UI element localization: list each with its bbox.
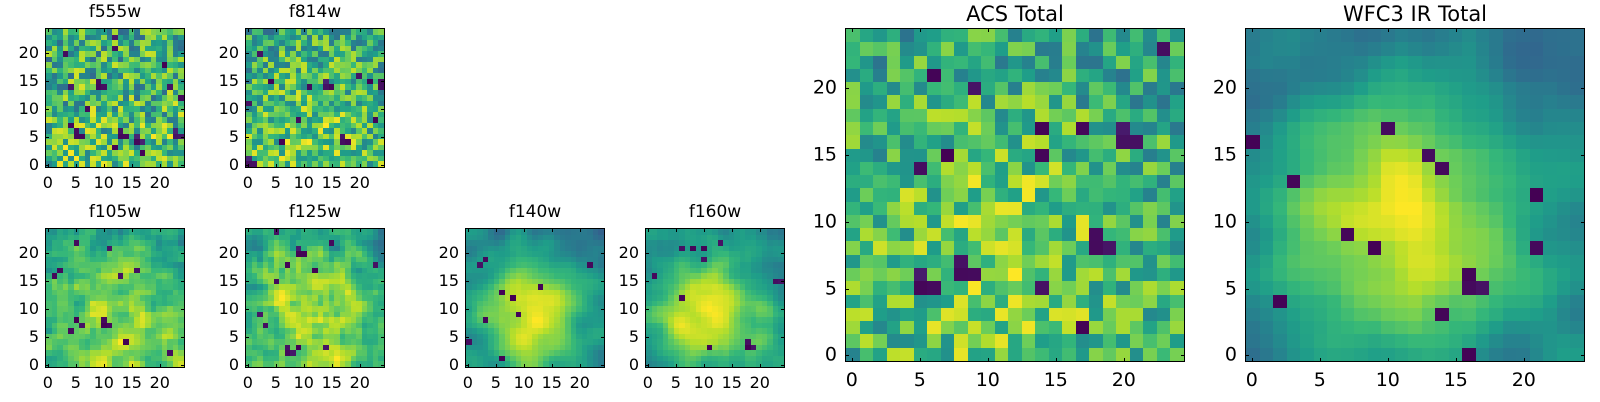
figure-canvas: f555w0510152005101520f814w05101520051015… (0, 0, 1600, 400)
ytick-right-f125w-5 (381, 337, 385, 338)
ytick-f814w-10 (245, 109, 249, 110)
xtick-f125w-20 (360, 364, 361, 368)
xtick-f160w-20 (760, 364, 761, 368)
axes-f160w (645, 228, 785, 368)
xticklabel-f125w-10: 10 (294, 375, 314, 391)
xticklabel-f555w-20: 20 (150, 175, 170, 191)
yticklabel-f140w-10: 10 (421, 301, 459, 317)
xtick-top-f125w-15 (332, 228, 333, 232)
yticklabel-f555w-15: 15 (1, 73, 39, 89)
ytick-acs-total-20 (845, 88, 849, 89)
ytick-right-f555w-5 (181, 137, 185, 138)
xticklabel-f814w-0: 0 (243, 175, 253, 191)
xtick-top-f555w-0 (48, 28, 49, 32)
yticklabel-acs-total-20: 20 (801, 79, 837, 98)
xticklabel-f160w-20: 20 (750, 375, 770, 391)
panel-title-f555w: f555w (45, 4, 185, 21)
xtick-top-f125w-10 (304, 228, 305, 232)
xticklabel-f814w-10: 10 (294, 175, 314, 191)
xtick-top-f125w-0 (248, 228, 249, 232)
xtick-top-wfc3-ir-total-15 (1456, 28, 1457, 32)
xtick-top-f160w-15 (732, 228, 733, 232)
ytick-right-f814w-10 (381, 109, 385, 110)
xtick-top-f160w-5 (676, 228, 677, 232)
yticklabel-f105w-0: 0 (1, 357, 39, 373)
xtick-top-f105w-10 (104, 228, 105, 232)
ytick-f105w-10 (45, 309, 49, 310)
xtick-top-f125w-5 (276, 228, 277, 232)
ytick-f814w-20 (245, 53, 249, 54)
yticklabel-wfc3-ir-total-10: 10 (1201, 212, 1237, 231)
ytick-f140w-10 (465, 309, 469, 310)
xticklabel-acs-total-0: 0 (846, 371, 858, 390)
yticklabel-f125w-0: 0 (201, 357, 239, 373)
heatmap-f105w (46, 229, 184, 367)
xtick-top-f814w-0 (248, 28, 249, 32)
panel-title-f140w: f140w (465, 204, 605, 221)
yticklabel-f160w-10: 10 (601, 301, 639, 317)
xtick-wfc3-ir-total-10 (1388, 358, 1389, 362)
ytick-right-f125w-0 (381, 365, 385, 366)
yticklabel-f125w-10: 10 (201, 301, 239, 317)
xtick-acs-total-10 (988, 358, 989, 362)
yticklabel-acs-total-0: 0 (801, 346, 837, 365)
ytick-f140w-0 (465, 365, 469, 366)
xtick-f140w-15 (552, 364, 553, 368)
yticklabel-f125w-5: 5 (201, 329, 239, 345)
xticklabel-f105w-10: 10 (94, 375, 114, 391)
xticklabel-f160w-15: 15 (722, 375, 742, 391)
yticklabel-f140w-20: 20 (421, 245, 459, 261)
xticklabel-wfc3-ir-total-5: 5 (1314, 371, 1326, 390)
xticklabel-f814w-5: 5 (271, 175, 281, 191)
xticklabel-f105w-15: 15 (122, 375, 142, 391)
xticklabel-wfc3-ir-total-15: 15 (1444, 371, 1468, 390)
xticklabel-f555w-15: 15 (122, 175, 142, 191)
xtick-top-f160w-20 (760, 228, 761, 232)
ytick-f555w-10 (45, 109, 49, 110)
axes-acs-total (845, 28, 1185, 362)
ytick-f814w-15 (245, 81, 249, 82)
ytick-f105w-0 (45, 365, 49, 366)
xtick-top-f125w-20 (360, 228, 361, 232)
panel-wfc3-ir-total: WFC3 IR Total0510152005101520 (1201, 2, 1597, 396)
ytick-acs-total-5 (845, 289, 849, 290)
xtick-f140w-20 (580, 364, 581, 368)
yticklabel-wfc3-ir-total-5: 5 (1201, 279, 1237, 298)
xtick-wfc3-ir-total-5 (1320, 358, 1321, 362)
xtick-f105w-10 (104, 364, 105, 368)
yticklabel-acs-total-10: 10 (801, 212, 837, 231)
xtick-f160w-5 (676, 364, 677, 368)
ytick-f125w-10 (245, 309, 249, 310)
xtick-acs-total-15 (1056, 358, 1057, 362)
xtick-top-acs-total-20 (1124, 28, 1125, 32)
ytick-f140w-15 (465, 281, 469, 282)
yticklabel-wfc3-ir-total-0: 0 (1201, 346, 1237, 365)
panel-title-f125w: f125w (245, 204, 385, 221)
ytick-f140w-5 (465, 337, 469, 338)
xtick-top-f140w-0 (468, 228, 469, 232)
ytick-right-f160w-15 (781, 281, 785, 282)
ytick-right-f160w-20 (781, 253, 785, 254)
ytick-right-acs-total-5 (1181, 289, 1185, 290)
ytick-wfc3-ir-total-15 (1245, 155, 1249, 156)
ytick-right-f555w-15 (181, 81, 185, 82)
ytick-right-wfc3-ir-total-0 (1581, 355, 1585, 356)
xtick-wfc3-ir-total-20 (1524, 358, 1525, 362)
ytick-right-wfc3-ir-total-10 (1581, 222, 1585, 223)
xtick-top-f105w-0 (48, 228, 49, 232)
panel-f125w: f125w0510152005101520 (201, 202, 397, 402)
ytick-right-f160w-10 (781, 309, 785, 310)
ytick-right-acs-total-0 (1181, 355, 1185, 356)
xticklabel-f814w-20: 20 (350, 175, 370, 191)
axes-f140w (465, 228, 605, 368)
ytick-right-f555w-0 (181, 165, 185, 166)
heatmap-f125w (246, 229, 384, 367)
ytick-f160w-10 (645, 309, 649, 310)
xticklabel-f555w-0: 0 (43, 175, 53, 191)
ytick-right-acs-total-20 (1181, 88, 1185, 89)
xtick-top-f140w-20 (580, 228, 581, 232)
ytick-right-wfc3-ir-total-5 (1581, 289, 1585, 290)
ytick-f105w-5 (45, 337, 49, 338)
xticklabel-f125w-15: 15 (322, 375, 342, 391)
panel-f140w: f140w0510152005101520 (421, 202, 617, 402)
xticklabel-f140w-10: 10 (514, 375, 534, 391)
ytick-right-f814w-15 (381, 81, 385, 82)
axes-f814w (245, 28, 385, 168)
xticklabel-f125w-5: 5 (271, 375, 281, 391)
yticklabel-f125w-20: 20 (201, 245, 239, 261)
xtick-top-f160w-10 (704, 228, 705, 232)
ytick-f140w-20 (465, 253, 469, 254)
xtick-top-f555w-15 (132, 28, 133, 32)
xtick-f160w-10 (704, 364, 705, 368)
ytick-right-f105w-15 (181, 281, 185, 282)
xtick-top-acs-total-5 (920, 28, 921, 32)
yticklabel-f555w-5: 5 (1, 129, 39, 145)
ytick-right-f160w-5 (781, 337, 785, 338)
xtick-f105w-5 (76, 364, 77, 368)
xticklabel-f160w-10: 10 (694, 375, 714, 391)
panel-acs-total: ACS Total0510152005101520 (801, 2, 1197, 396)
ytick-f125w-15 (245, 281, 249, 282)
xtick-top-f555w-20 (160, 28, 161, 32)
ytick-wfc3-ir-total-10 (1245, 222, 1249, 223)
xtick-wfc3-ir-total-0 (1252, 358, 1253, 362)
ytick-right-f105w-20 (181, 253, 185, 254)
xtick-acs-total-20 (1124, 358, 1125, 362)
xtick-top-acs-total-0 (852, 28, 853, 32)
ytick-right-f160w-0 (781, 365, 785, 366)
panel-f555w: f555w0510152005101520 (1, 2, 197, 202)
yticklabel-f140w-5: 5 (421, 329, 459, 345)
xticklabel-acs-total-5: 5 (914, 371, 926, 390)
axes-wfc3-ir-total (1245, 28, 1585, 362)
yticklabel-wfc3-ir-total-20: 20 (1201, 79, 1237, 98)
ytick-right-acs-total-15 (1181, 155, 1185, 156)
ytick-wfc3-ir-total-20 (1245, 88, 1249, 89)
heatmap-wfc3-ir-total (1246, 29, 1584, 361)
heatmap-f555w (46, 29, 184, 167)
yticklabel-f160w-20: 20 (601, 245, 639, 261)
ytick-acs-total-10 (845, 222, 849, 223)
yticklabel-acs-total-5: 5 (801, 279, 837, 298)
ytick-acs-total-15 (845, 155, 849, 156)
yticklabel-f814w-15: 15 (201, 73, 239, 89)
yticklabel-f105w-15: 15 (1, 273, 39, 289)
yticklabel-f814w-5: 5 (201, 129, 239, 145)
panel-title-wfc3-ir-total: WFC3 IR Total (1245, 4, 1585, 25)
panel-f814w: f814w0510152005101520 (201, 2, 397, 202)
yticklabel-f555w-20: 20 (1, 45, 39, 61)
heatmap-f140w (466, 229, 604, 367)
ytick-f555w-15 (45, 81, 49, 82)
axes-f105w (45, 228, 185, 368)
ytick-f105w-15 (45, 281, 49, 282)
xtick-f555w-15 (132, 164, 133, 168)
yticklabel-f105w-10: 10 (1, 301, 39, 317)
xticklabel-f105w-20: 20 (150, 375, 170, 391)
xtick-f125w-15 (332, 364, 333, 368)
xtick-top-f814w-20 (360, 28, 361, 32)
ytick-f814w-0 (245, 165, 249, 166)
heatmap-f814w (246, 29, 384, 167)
ytick-right-f814w-0 (381, 165, 385, 166)
yticklabel-f140w-0: 0 (421, 357, 459, 373)
xticklabel-f105w-0: 0 (43, 375, 53, 391)
yticklabel-f105w-5: 5 (1, 329, 39, 345)
ytick-right-f125w-10 (381, 309, 385, 310)
xticklabel-f814w-15: 15 (322, 175, 342, 191)
ytick-right-wfc3-ir-total-15 (1581, 155, 1585, 156)
ytick-right-f125w-15 (381, 281, 385, 282)
ytick-right-f105w-0 (181, 365, 185, 366)
xtick-top-wfc3-ir-total-0 (1252, 28, 1253, 32)
panel-title-f105w: f105w (45, 204, 185, 221)
xticklabel-wfc3-ir-total-0: 0 (1246, 371, 1258, 390)
yticklabel-f160w-0: 0 (601, 357, 639, 373)
xtick-top-f140w-10 (524, 228, 525, 232)
xtick-top-f814w-5 (276, 28, 277, 32)
xtick-top-f140w-15 (552, 228, 553, 232)
xtick-top-acs-total-15 (1056, 28, 1057, 32)
ytick-right-f555w-20 (181, 53, 185, 54)
xtick-wfc3-ir-total-15 (1456, 358, 1457, 362)
heatmap-acs-total (846, 29, 1184, 361)
ytick-right-wfc3-ir-total-20 (1581, 88, 1585, 89)
ytick-f555w-5 (45, 137, 49, 138)
xtick-f140w-10 (524, 364, 525, 368)
ytick-wfc3-ir-total-5 (1245, 289, 1249, 290)
xtick-top-f814w-10 (304, 28, 305, 32)
xticklabel-wfc3-ir-total-20: 20 (1512, 371, 1536, 390)
ytick-f160w-5 (645, 337, 649, 338)
ytick-right-f125w-20 (381, 253, 385, 254)
xtick-top-f160w-0 (648, 228, 649, 232)
ytick-right-acs-total-10 (1181, 222, 1185, 223)
xticklabel-f160w-5: 5 (671, 375, 681, 391)
xtick-top-f555w-5 (76, 28, 77, 32)
yticklabel-wfc3-ir-total-15: 15 (1201, 145, 1237, 164)
xtick-f814w-20 (360, 164, 361, 168)
xtick-f105w-20 (160, 364, 161, 368)
xtick-top-wfc3-ir-total-10 (1388, 28, 1389, 32)
xtick-acs-total-0 (852, 358, 853, 362)
panel-f160w: f160w0510152005101520 (601, 202, 797, 402)
panel-title-f160w: f160w (645, 204, 785, 221)
xtick-top-f105w-20 (160, 228, 161, 232)
xtick-f140w-5 (496, 364, 497, 368)
axes-f125w (245, 228, 385, 368)
yticklabel-f814w-20: 20 (201, 45, 239, 61)
yticklabel-f105w-20: 20 (1, 245, 39, 261)
ytick-f160w-15 (645, 281, 649, 282)
xtick-top-acs-total-10 (988, 28, 989, 32)
xtick-top-f140w-5 (496, 228, 497, 232)
panel-title-acs-total: ACS Total (845, 4, 1185, 25)
xticklabel-acs-total-20: 20 (1112, 371, 1136, 390)
xtick-top-wfc3-ir-total-5 (1320, 28, 1321, 32)
xticklabel-wfc3-ir-total-10: 10 (1376, 371, 1400, 390)
ytick-right-f814w-20 (381, 53, 385, 54)
ytick-f105w-20 (45, 253, 49, 254)
xticklabel-f125w-20: 20 (350, 375, 370, 391)
ytick-f125w-20 (245, 253, 249, 254)
ytick-f160w-20 (645, 253, 649, 254)
yticklabel-f140w-15: 15 (421, 273, 459, 289)
xtick-f105w-15 (132, 364, 133, 368)
xtick-acs-total-5 (920, 358, 921, 362)
xticklabel-f125w-0: 0 (243, 375, 253, 391)
yticklabel-acs-total-15: 15 (801, 145, 837, 164)
xtick-f814w-5 (276, 164, 277, 168)
xtick-top-wfc3-ir-total-20 (1524, 28, 1525, 32)
ytick-f160w-0 (645, 365, 649, 366)
xticklabel-f140w-5: 5 (491, 375, 501, 391)
panel-title-f814w: f814w (245, 4, 385, 21)
xticklabel-f555w-5: 5 (71, 175, 81, 191)
yticklabel-f555w-0: 0 (1, 157, 39, 173)
yticklabel-f160w-5: 5 (601, 329, 639, 345)
xticklabel-f105w-5: 5 (71, 375, 81, 391)
ytick-wfc3-ir-total-0 (1245, 355, 1249, 356)
ytick-right-f105w-10 (181, 309, 185, 310)
xticklabel-f140w-15: 15 (542, 375, 562, 391)
ytick-right-f814w-5 (381, 137, 385, 138)
xtick-top-f814w-15 (332, 28, 333, 32)
xtick-f814w-10 (304, 164, 305, 168)
xticklabel-acs-total-10: 10 (976, 371, 1000, 390)
xtick-f555w-5 (76, 164, 77, 168)
ytick-f555w-0 (45, 165, 49, 166)
xtick-f555w-20 (160, 164, 161, 168)
yticklabel-f814w-0: 0 (201, 157, 239, 173)
ytick-f814w-5 (245, 137, 249, 138)
xtick-f125w-5 (276, 364, 277, 368)
xtick-f125w-10 (304, 364, 305, 368)
ytick-right-f105w-5 (181, 337, 185, 338)
xticklabel-f140w-0: 0 (463, 375, 473, 391)
xtick-f160w-15 (732, 364, 733, 368)
yticklabel-f125w-15: 15 (201, 273, 239, 289)
xtick-top-f555w-10 (104, 28, 105, 32)
xticklabel-f140w-20: 20 (570, 375, 590, 391)
yticklabel-f555w-10: 10 (1, 101, 39, 117)
ytick-acs-total-0 (845, 355, 849, 356)
xtick-top-f105w-15 (132, 228, 133, 232)
yticklabel-f160w-15: 15 (601, 273, 639, 289)
ytick-f125w-5 (245, 337, 249, 338)
heatmap-f160w (646, 229, 784, 367)
panel-f105w: f105w0510152005101520 (1, 202, 197, 402)
axes-f555w (45, 28, 185, 168)
ytick-f555w-20 (45, 53, 49, 54)
xticklabel-f555w-10: 10 (94, 175, 114, 191)
ytick-right-f555w-10 (181, 109, 185, 110)
xtick-f555w-10 (104, 164, 105, 168)
xticklabel-f160w-0: 0 (643, 375, 653, 391)
yticklabel-f814w-10: 10 (201, 101, 239, 117)
xtick-top-f105w-5 (76, 228, 77, 232)
xtick-f814w-15 (332, 164, 333, 168)
ytick-f125w-0 (245, 365, 249, 366)
xticklabel-acs-total-15: 15 (1044, 371, 1068, 390)
